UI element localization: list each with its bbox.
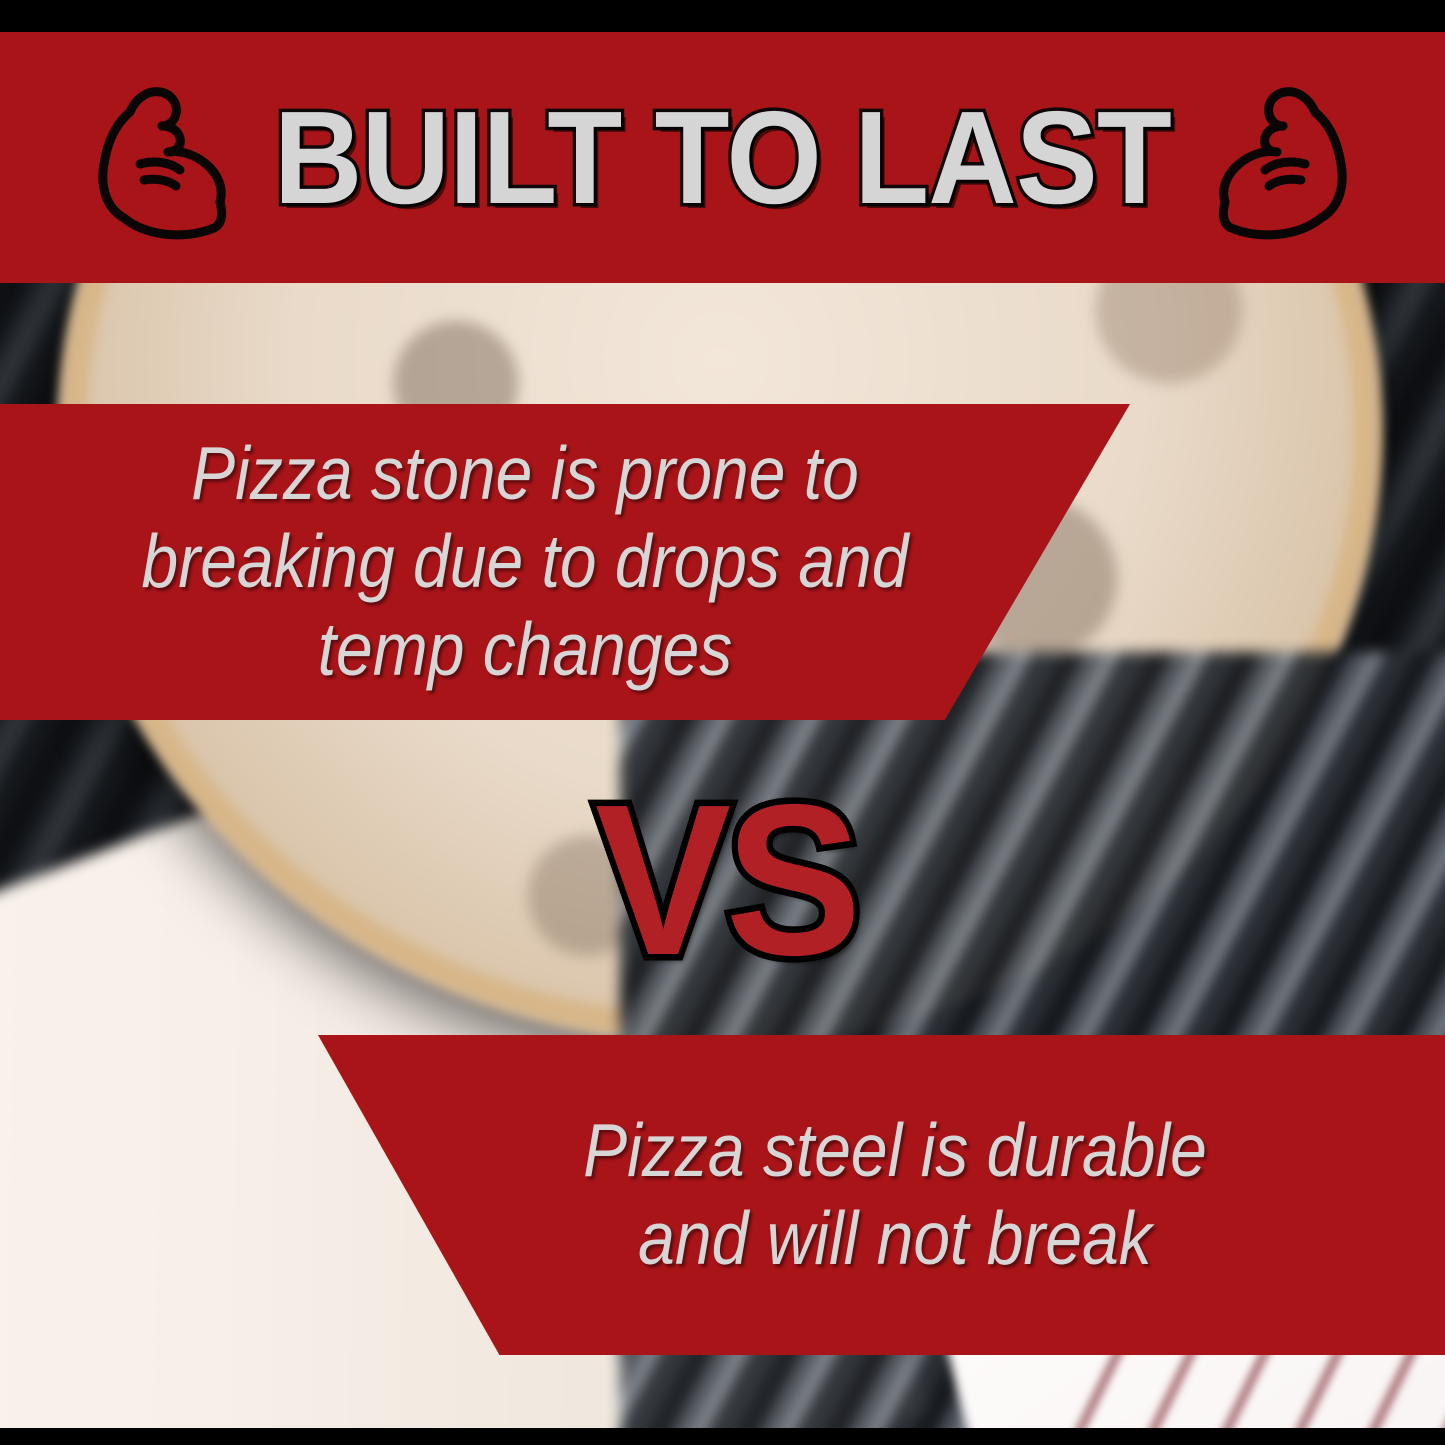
vs-label: VS [594, 772, 855, 987]
pizza-steel-callout-text: Pizza steel is durable and will not brea… [429, 1107, 1362, 1283]
pizza-stone-callout-text: Pizza stone is prone to breaking due to … [72, 430, 978, 693]
flexed-bicep-icon-left [84, 68, 234, 248]
vs-divider: VS [555, 772, 895, 987]
header-banner: BUILT TO LAST [0, 32, 1445, 283]
bottom-black-bar [0, 1428, 1445, 1445]
pizza-steel-callout-banner: Pizza steel is durable and will not brea… [318, 1035, 1445, 1355]
product-comparison-graphic: BUILT TO LAST Pizza stone is prone to br… [0, 0, 1445, 1445]
flexed-bicep-icon-right [1211, 68, 1361, 248]
pizza-stone-callout-banner: Pizza stone is prone to breaking due to … [0, 404, 1130, 720]
top-black-bar [0, 0, 1445, 32]
page-title: BUILT TO LAST [274, 92, 1171, 224]
